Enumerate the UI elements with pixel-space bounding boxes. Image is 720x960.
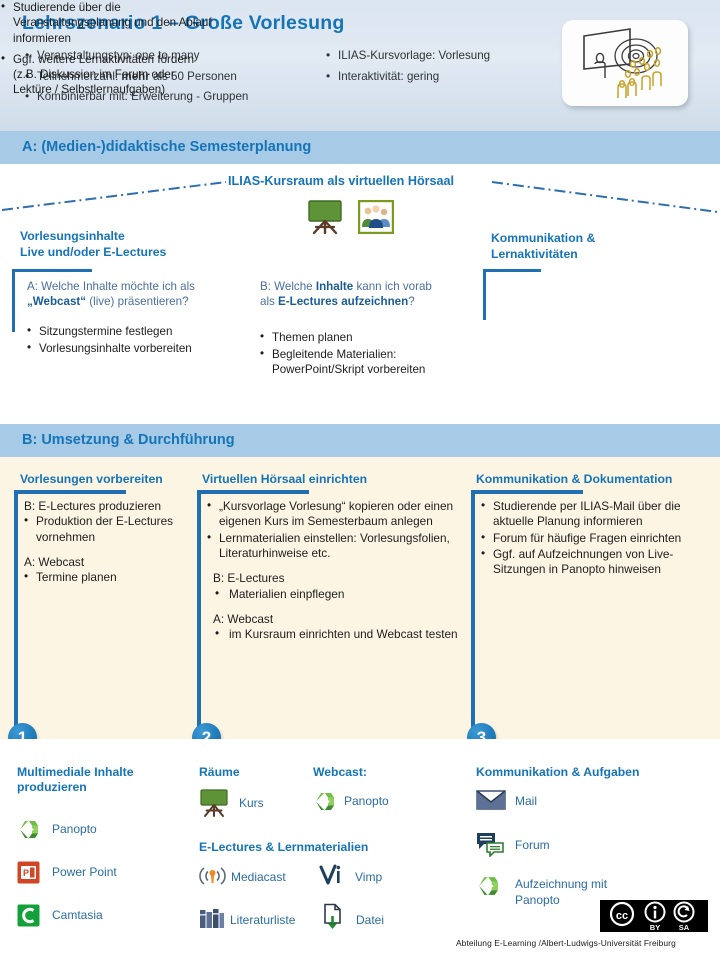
- kommunikation-heading: Kommunikation & Lernaktivitäten: [491, 231, 595, 262]
- question-b: B: Welche Inhalte kann ich vorab als E-L…: [260, 279, 478, 310]
- svg-text:P: P: [23, 868, 29, 878]
- bracket-left-top: [12, 269, 92, 272]
- tool-label-mediacast[interactable]: Mediacast: [231, 870, 286, 885]
- heading-line-2: produzieren: [17, 780, 187, 795]
- tool-label-datei[interactable]: Datei: [356, 913, 384, 928]
- list-item: Forum für häufige Fragen einrichten: [481, 531, 709, 546]
- b-bracket-1: [14, 494, 18, 744]
- tool-label-forum[interactable]: Forum: [515, 838, 550, 853]
- tools-group2-heading-raeume: Räume: [199, 765, 240, 780]
- bracket-right-top: [483, 269, 541, 272]
- b-bracket-2: [197, 494, 201, 744]
- vimp-icon[interactable]: [319, 863, 345, 887]
- panopto-icon[interactable]: [17, 818, 40, 841]
- tool-label-panopto-webcast[interactable]: Panopto: [344, 794, 389, 809]
- heading-line-1: Multimediale Inhalte: [17, 765, 187, 780]
- heading-line-2: Live und/oder E-Lectures: [20, 245, 166, 261]
- question-a-line-1: A: Welche Inhalte möchte ich als: [27, 279, 245, 294]
- b-col1-intro-1: B: E-Lectures produzieren: [24, 499, 184, 514]
- list-item: Begleitende Materialien: PowerPoint/Skri…: [260, 347, 475, 377]
- list-item: Produktion der E-Lectures vornehmen: [24, 514, 184, 545]
- list-item: Studierende per ILIAS-Mail über die aktu…: [481, 499, 709, 530]
- tools-group2-heading-electures: E-Lectures & Lernmaterialien: [199, 840, 368, 855]
- section-a-label: A: (Medien-)didaktische Semesterplanung: [22, 139, 311, 155]
- b-col2-heading: Virtuellen Hörsaal einrichten: [202, 472, 367, 486]
- svg-text:BY: BY: [650, 923, 660, 932]
- bullets-b: Themen planen Begleitende Materialien: P…: [260, 330, 475, 379]
- b-bracket-3-top: [471, 490, 583, 494]
- list-item: Interaktivität: gering: [325, 71, 490, 83]
- question-b-line-2: als E-Lectures aufzeichnen?: [260, 294, 478, 309]
- heading-line-1: Vorlesungsinhalte: [20, 229, 166, 245]
- tools-group3-heading: Kommunikation & Aufgaben: [476, 765, 639, 780]
- list-item: Ggf. auf Aufzeichnungen von Live-Sitzung…: [481, 547, 709, 578]
- panopto-icon[interactable]: [476, 874, 500, 898]
- bracket-left: [12, 272, 15, 332]
- powerpoint-icon[interactable]: P: [17, 861, 40, 884]
- question-a-line-2: „Webcast“ (live) präsentieren?: [27, 294, 245, 309]
- b-bracket-1-top: [14, 490, 126, 494]
- b-col1-heading: Vorlesungen vorbereiten: [20, 472, 163, 486]
- tool-label-camtasia[interactable]: Camtasia: [52, 908, 103, 923]
- heading-line-1: Kommunikation &: [491, 231, 595, 247]
- b-bracket-2-top: [197, 490, 309, 494]
- b-col3-content: Studierende per ILIAS-Mail über die aktu…: [481, 499, 709, 579]
- board-icon: [306, 199, 344, 235]
- b-col1-content: B: E-Lectures produzieren Produktion der…: [24, 499, 184, 587]
- tool-label-mail[interactable]: Mail: [515, 794, 537, 809]
- lecture-hall-illustration: [562, 20, 688, 106]
- group-icon: [358, 200, 394, 234]
- tool-label-literaturliste[interactable]: Literaturliste: [230, 913, 295, 928]
- list-item: Lernmaterialien einstellen: Vorlesungsfo…: [207, 531, 463, 562]
- file-download-icon[interactable]: [321, 903, 345, 930]
- forum-icon[interactable]: [476, 832, 504, 857]
- infographic-page: Lehrszenario 1 – Große Vorlesung Veranst…: [0, 0, 720, 960]
- header-bullets-right: ILIAS-Kursvorlage: Vorlesung Interaktivi…: [325, 50, 490, 91]
- list-item: Vorlesungsinhalte vorbereiten: [27, 341, 252, 356]
- question-a: A: Welche Inhalte möchte ich als „Webcas…: [27, 279, 245, 310]
- bullets-a: Sitzungstermine festlegen Vorlesungsinha…: [27, 324, 252, 358]
- b-col2-content: „Kursvorlage Vorlesung“ kopieren oder ei…: [207, 499, 463, 644]
- b-col3-heading: Kommunikation & Dokumentation: [476, 472, 672, 486]
- ilias-course-room-label: ILIAS-Kursraum als virtuellen Hörsaal: [228, 174, 454, 188]
- list-item: Sitzungstermine festlegen: [27, 324, 252, 339]
- b-col1-intro-2: A: Webcast: [24, 555, 184, 570]
- mail-icon[interactable]: [476, 788, 506, 812]
- bracket-right: [483, 272, 486, 320]
- tool-label-kurs[interactable]: Kurs: [239, 796, 264, 811]
- section-b-header: B: Umsetzung & Durchführung: [0, 424, 720, 457]
- camtasia-icon[interactable]: [17, 904, 40, 927]
- cc-license-badge: cc BY SA: [600, 900, 708, 932]
- section-b-label: B: Umsetzung & Durchführung: [22, 432, 235, 448]
- tool-label-panopto[interactable]: Panopto: [52, 822, 97, 837]
- mediacast-icon[interactable]: [199, 864, 226, 888]
- vorlesungsinhalte-heading: Vorlesungsinhalte Live und/oder E-Lectur…: [20, 229, 166, 260]
- heading-line-2: Lernaktivitäten: [491, 247, 595, 263]
- section-a-header: A: (Medien-)didaktische Semesterplanung: [0, 131, 720, 164]
- list-item: Themen planen: [260, 330, 475, 345]
- list-item: „Kursvorlage Vorlesung“ kopieren oder ei…: [207, 499, 463, 530]
- list-item: Studierende über die Veranstaltungsplanu…: [0, 0, 216, 46]
- board-icon[interactable]: [199, 789, 229, 817]
- decorative-dashed-line-left: [0, 178, 230, 214]
- list-item: Materialien einpflegen: [215, 587, 463, 602]
- decorative-dashed-line-right: [490, 178, 720, 218]
- list-item: Ggf. weitere Lernaktivitäten fördern (z.…: [0, 52, 216, 98]
- b-col2-intro-3: A: Webcast: [207, 612, 463, 627]
- books-icon[interactable]: [199, 907, 225, 930]
- tools-group1-heading: Multimediale Inhalte produzieren: [17, 765, 187, 796]
- panopto-icon[interactable]: [313, 790, 336, 813]
- list-item: Termine planen: [24, 570, 184, 585]
- tool-label-powerpoint[interactable]: Power Point: [52, 865, 117, 880]
- svg-text:cc: cc: [616, 910, 628, 922]
- question-b-line-1: B: Welche Inhalte kann ich vorab: [260, 279, 478, 294]
- svg-text:SA: SA: [679, 923, 690, 932]
- list-item: im Kursraum einrichten und Webcast teste…: [215, 627, 463, 642]
- list-item: ILIAS-Kursvorlage: Vorlesung: [325, 50, 490, 62]
- credit-line: Abteilung E-Learning /Albert-Ludwigs-Uni…: [456, 938, 676, 948]
- tool-label-vimp[interactable]: Vimp: [355, 870, 382, 885]
- tools-group2-heading-webcast: Webcast:: [313, 765, 367, 780]
- b-bracket-3: [471, 494, 475, 744]
- b-col2-intro-2: B: E-Lectures: [207, 571, 463, 586]
